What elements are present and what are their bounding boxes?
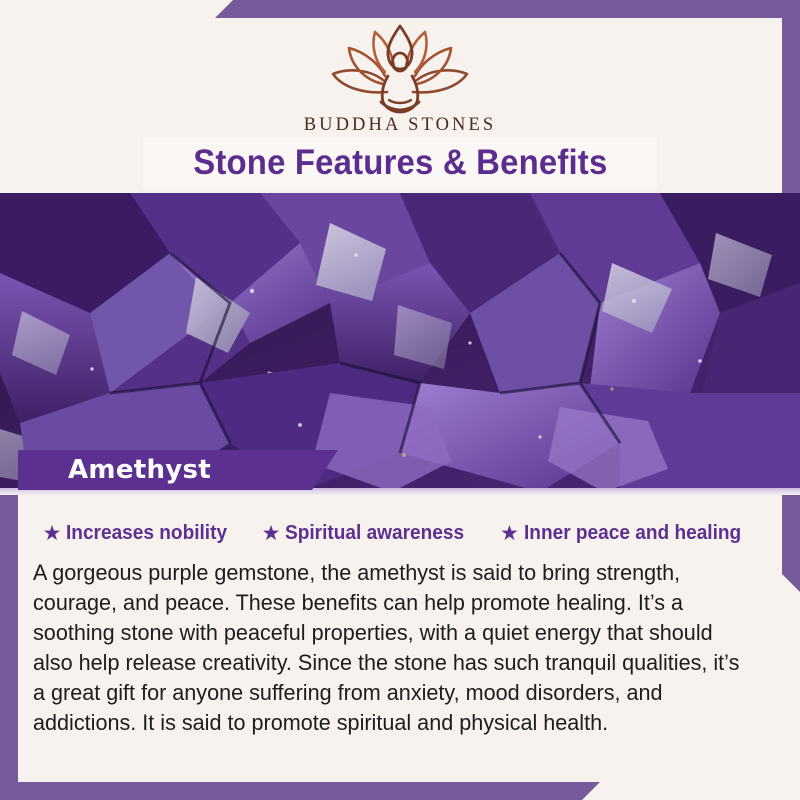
brand-logo: BUDDHA STONES — [18, 22, 782, 136]
benefit-item-3: ★ Inner peace and healing — [500, 521, 757, 545]
benefit-item-1: ★ Increases nobility — [43, 521, 240, 545]
stone-name-banner: Amethyst — [18, 450, 338, 490]
frame-bottom-bar — [0, 782, 600, 800]
infographic-page: BUDDHA STONES Stone Features & Benefits — [0, 0, 800, 800]
stone-name: Amethyst — [68, 455, 211, 485]
amethyst-photo — [0, 193, 800, 492]
lotus-meditation-icon — [325, 22, 475, 114]
amethyst-crystal-cluster-illustration — [0, 193, 800, 492]
benefit-label-3: Inner peace and healing — [524, 521, 741, 545]
title-band: Stone Features & Benefits — [143, 138, 657, 188]
benefit-label-1: Increases nobility — [66, 521, 227, 545]
benefit-item-2: ★ Spiritual awareness — [262, 521, 478, 545]
star-icon: ★ — [262, 523, 281, 544]
brand-name: BUDDHA STONES — [304, 115, 497, 136]
benefit-label-2: Spiritual awareness — [285, 521, 464, 545]
page-title: Stone Features & Benefits — [193, 143, 607, 183]
benefits-list: ★ Increases nobility ★ Spiritual awarene… — [18, 516, 782, 550]
star-icon: ★ — [43, 523, 62, 544]
star-icon: ★ — [500, 523, 519, 544]
stone-description: A gorgeous purple gemstone, the amethyst… — [33, 558, 745, 738]
frame-top-bar — [215, 0, 800, 18]
